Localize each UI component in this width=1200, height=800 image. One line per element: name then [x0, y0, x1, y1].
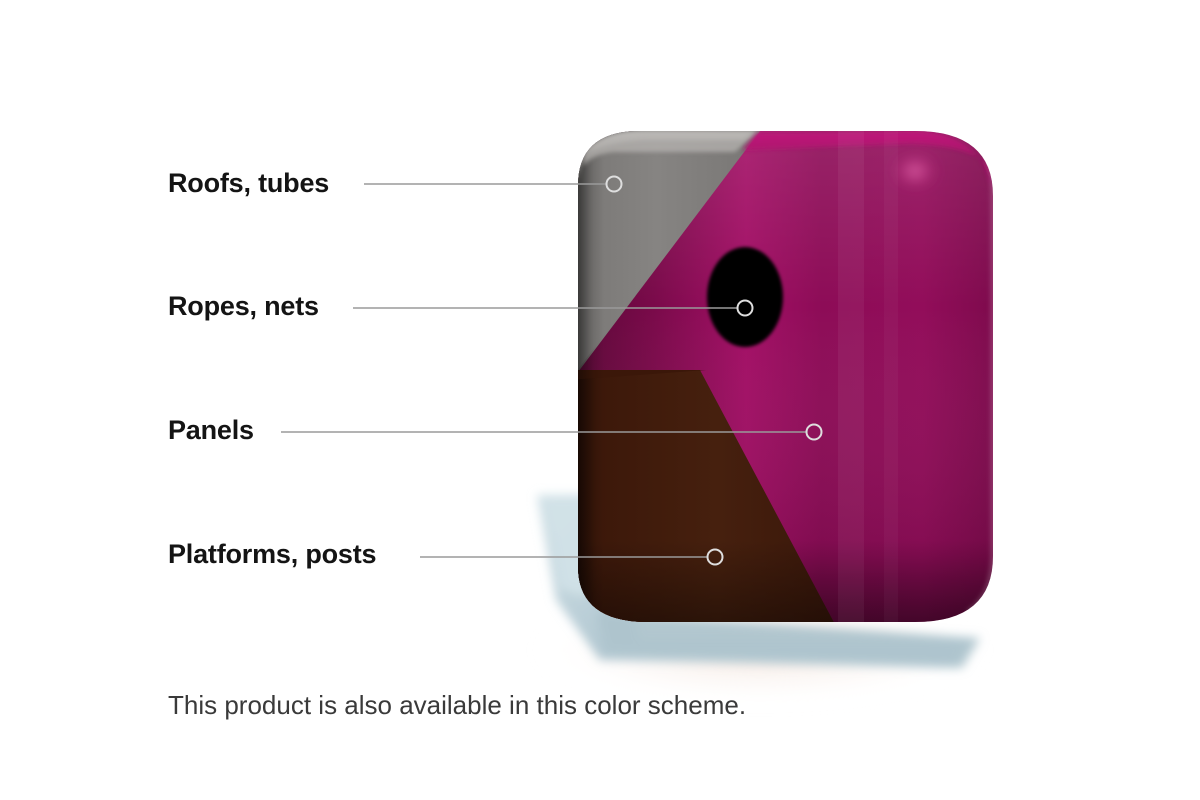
availability-caption: This product is also available in this c… [168, 692, 746, 718]
callout-marker[interactable] [607, 177, 622, 192]
callout-label-platforms-posts: Platforms, posts [168, 541, 376, 568]
callout-label-panels: Panels [168, 417, 254, 444]
callout-label-ropes-nets: Ropes, nets [168, 293, 319, 320]
callout-panels[interactable] [281, 425, 822, 440]
callout-label-roofs-tubes: Roofs, tubes [168, 170, 329, 197]
callout-ropes-nets[interactable] [353, 301, 753, 316]
illustration-canvas: Roofs, tubes Ropes, nets Panels Platform… [0, 0, 1200, 800]
callout-marker[interactable] [738, 301, 753, 316]
callout-marker[interactable] [807, 425, 822, 440]
callout-marker[interactable] [708, 550, 723, 565]
callout-roofs-tubes[interactable] [364, 177, 622, 192]
callout-overlay [0, 0, 1200, 800]
callout-platforms-posts[interactable] [420, 550, 723, 565]
